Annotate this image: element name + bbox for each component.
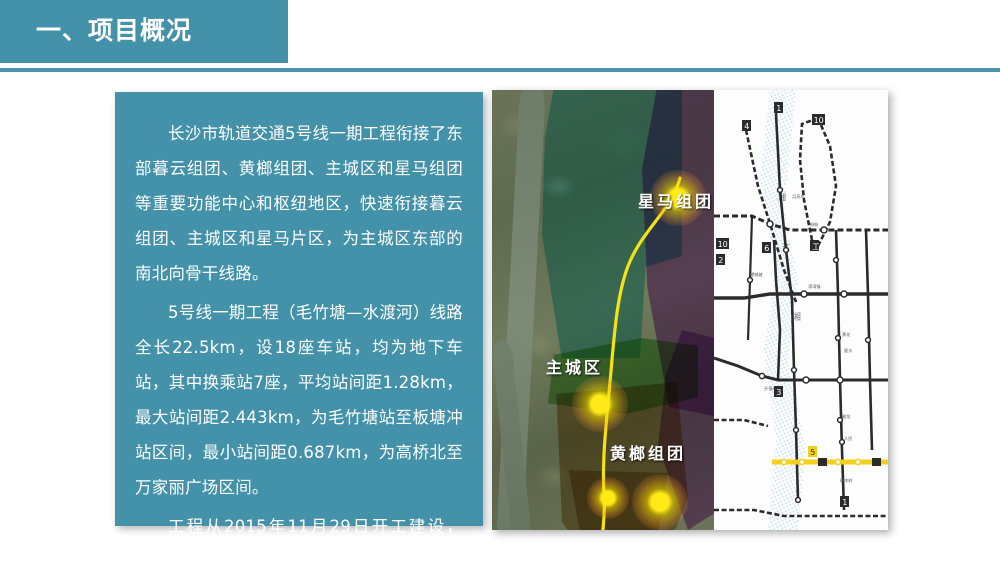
svg-text:6: 6 [764, 244, 769, 253]
svg-text:4: 4 [744, 122, 749, 131]
svg-text:工: 工 [812, 242, 820, 251]
svg-text:3: 3 [776, 388, 781, 397]
svg-text:树木岭: 树木岭 [840, 477, 853, 484]
svg-text:月亮岛: 月亮岛 [792, 193, 805, 200]
station-glow-marker [587, 477, 629, 519]
header-divider-rule [0, 68, 1000, 72]
svg-text:5: 5 [810, 448, 815, 457]
svg-text:盼盼: 盼盼 [810, 221, 819, 228]
zone-label-huanghua: 黄榔组团 [610, 440, 686, 464]
metro-network-diagram: 湘 江 湘 [714, 90, 888, 530]
svg-text:湘龙: 湘龙 [842, 413, 851, 420]
svg-text:黄花: 黄花 [842, 331, 850, 338]
svg-text:星沙: 星沙 [844, 348, 853, 353]
svg-text:1: 1 [776, 104, 781, 113]
svg-text:望城坡: 望城坡 [750, 271, 763, 278]
figure-group: 星马组团 主城区 黄榔组团 暮云组团 湘 江 湘 [492, 90, 888, 530]
station-glow-marker [632, 474, 688, 530]
paragraph-2: 5号线一期工程（毛竹塘—水渡河）线路全长22.5km，设18座车站，均为地下车站… [135, 295, 463, 505]
zone-label-zhuchengqu: 主城区 [546, 354, 603, 378]
metro-network-svg: 湘 江 湘 [714, 90, 888, 530]
svg-text:10: 10 [814, 116, 824, 125]
svg-text:2: 2 [718, 256, 723, 265]
station-glow-marker [572, 376, 628, 432]
page-title: 一、项目概况 [36, 16, 192, 46]
svg-text:10: 10 [718, 240, 728, 249]
satellite-corridor-map: 星马组团 主城区 黄榔组团 暮云组团 [492, 90, 714, 530]
paragraph-1: 长沙市轨道交通5号线一期工程衔接了东部暮云组团、黄榔组团、主城区和星马组团等重要… [135, 116, 463, 291]
svg-text:1: 1 [842, 498, 847, 507]
zone-label-xingma: 星马组团 [638, 188, 714, 212]
paragraph-3: 工程从2015年11月29日开工建设，2019年12月全线通车试运行。 [135, 509, 463, 579]
overview-text-panel: 长沙市轨道交通5号线一期工程衔接了东部暮云组团、黄榔组团、主城区和星马组团等重要… [115, 92, 483, 526]
svg-text:溁湾镇: 溁湾镇 [808, 283, 821, 290]
